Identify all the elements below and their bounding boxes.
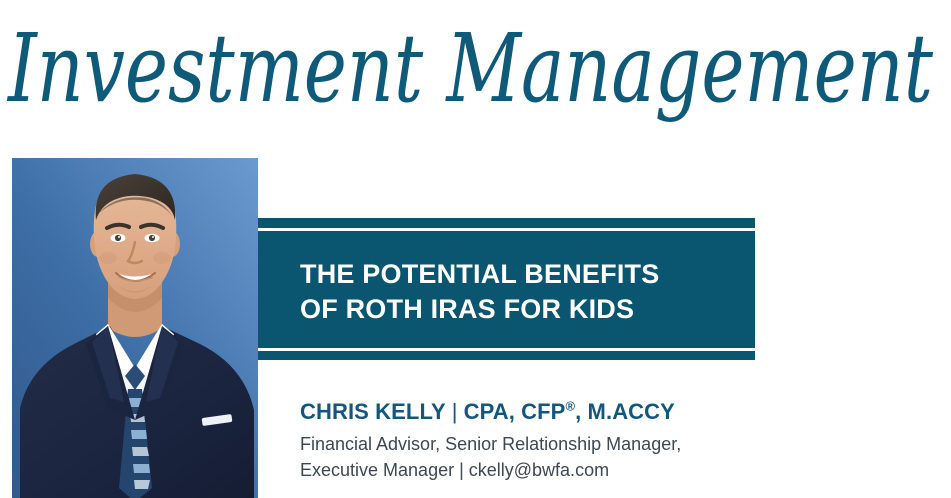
- headline-accent-bar-bottom: [258, 351, 755, 360]
- advisor-name-text: CHRIS KELLY: [300, 399, 446, 424]
- author-byline: CHRIS KELLY|CPA, CFP®, M.ACCY Financial …: [300, 398, 900, 483]
- advisor-photo: [12, 158, 258, 498]
- byline-separator: |: [446, 399, 464, 424]
- headline-panel: THE POTENTIAL BENEFITS OF ROTH IRAS FOR …: [258, 231, 755, 348]
- advisor-title-line-1: Financial Advisor, Senior Relationship M…: [300, 431, 900, 457]
- article-headline: THE POTENTIAL BENEFITS OF ROTH IRAS FOR …: [300, 257, 659, 327]
- advisor-credentials-secondary: , M.ACCY: [575, 399, 675, 424]
- advisor-name-credentials: CHRIS KELLY|CPA, CFP®, M.ACCY: [300, 398, 900, 425]
- masthead-script-svg: Investment Management: [0, 0, 951, 140]
- advisor-photo-illustration: [12, 158, 258, 498]
- headline-accent-bar-top: [258, 218, 755, 228]
- masthead-title: Investment Management: [6, 14, 933, 124]
- registered-trademark-icon: ®: [565, 399, 575, 414]
- advisor-title-line-2[interactable]: Executive Manager | ckelly@bwfa.com: [300, 457, 900, 483]
- advisor-credentials-primary: CPA, CFP: [464, 399, 566, 424]
- masthead-banner: Investment Management: [0, 0, 951, 140]
- headline-block: THE POTENTIAL BENEFITS OF ROTH IRAS FOR …: [258, 218, 755, 360]
